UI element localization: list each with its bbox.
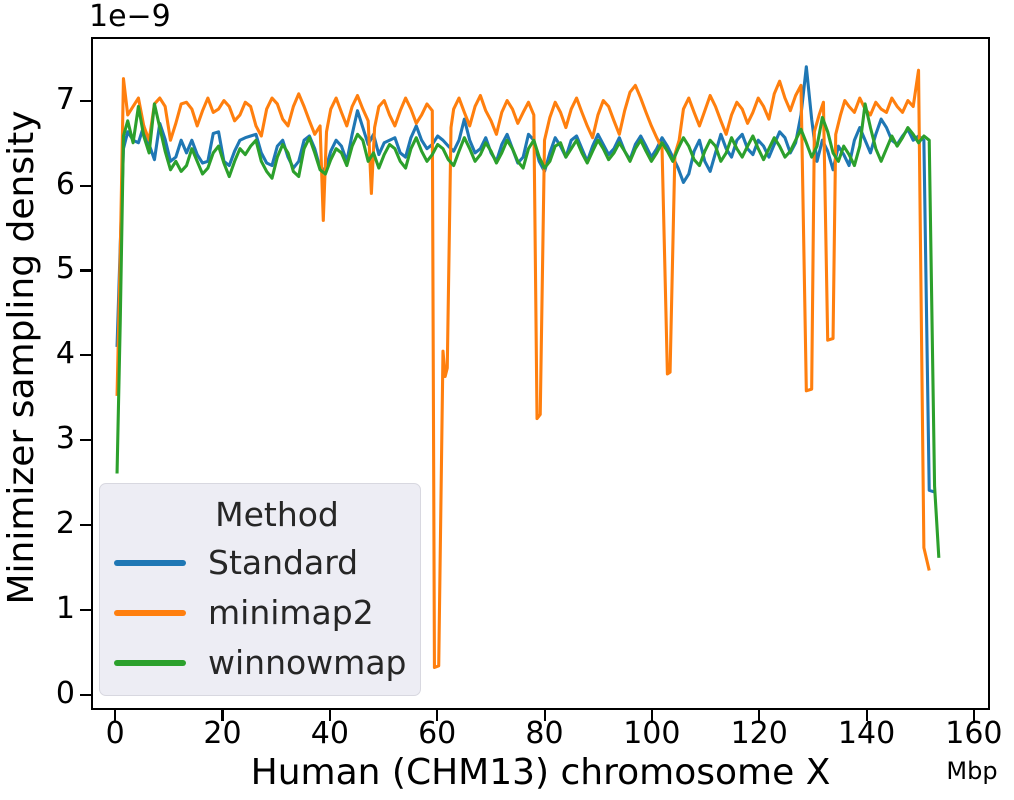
x-tick-label: 0 <box>75 718 155 750</box>
legend-entry-minimap2[interactable]: minimap2 <box>114 588 406 638</box>
legend-entry-label: winnowmap <box>208 643 406 683</box>
y-tick-mark <box>80 439 91 441</box>
y-tick-label: 7 <box>35 85 75 115</box>
y-tick-mark <box>80 100 91 102</box>
x-tick-mark <box>436 710 438 721</box>
x-tick-label: 60 <box>397 718 477 750</box>
legend-color-swatch <box>114 610 186 616</box>
x-tick-mark <box>866 710 868 721</box>
x-tick-label: 140 <box>827 718 907 750</box>
legend-title: Method <box>114 492 406 538</box>
x-tick-mark <box>973 710 975 721</box>
x-tick-label: 120 <box>719 718 799 750</box>
legend-color-swatch <box>114 660 186 666</box>
x-tick-mark <box>114 710 116 721</box>
legend-entry-label: minimap2 <box>208 593 374 633</box>
y-tick-label: 4 <box>35 339 75 369</box>
y-tick-label: 2 <box>35 509 75 539</box>
y-tick-label: 3 <box>35 424 75 454</box>
y-tick-label: 6 <box>35 170 75 200</box>
y-tick-label: 0 <box>35 679 75 709</box>
x-tick-label: 40 <box>290 718 370 750</box>
y-tick-label: 5 <box>35 254 75 284</box>
y-tick-mark <box>80 185 91 187</box>
x-axis-label: Human (CHM13) chromosome X <box>91 752 990 794</box>
x-tick-label: 160 <box>934 718 1014 750</box>
figure-canvas: 1e−9 Minimizer sampling density 01234567… <box>0 0 1014 800</box>
y-tick-mark <box>80 524 91 526</box>
axis-offset-text: 1e−9 <box>89 2 171 32</box>
x-tick-mark <box>221 710 223 721</box>
x-tick-mark <box>758 710 760 721</box>
legend-entries: Standardminimap2winnowmap <box>114 538 406 688</box>
y-tick-mark <box>80 354 91 356</box>
x-tick-mark <box>544 710 546 721</box>
legend-entry-winnowmap[interactable]: winnowmap <box>114 638 406 688</box>
x-tick-mark <box>651 710 653 721</box>
x-tick-label: 80 <box>505 718 585 750</box>
legend-box[interactable]: Method Standardminimap2winnowmap <box>99 483 421 696</box>
x-axis-unit-label: Mbp <box>930 757 1014 785</box>
x-tick-label: 20 <box>182 718 262 750</box>
x-tick-mark <box>329 710 331 721</box>
y-tick-label: 1 <box>35 594 75 624</box>
y-tick-mark <box>80 269 91 271</box>
legend-entry-label: Standard <box>208 543 358 583</box>
legend-color-swatch <box>114 560 186 566</box>
y-tick-mark <box>80 609 91 611</box>
legend-entry-standard[interactable]: Standard <box>114 538 406 588</box>
x-tick-label: 100 <box>612 718 692 750</box>
y-tick-mark <box>80 694 91 696</box>
